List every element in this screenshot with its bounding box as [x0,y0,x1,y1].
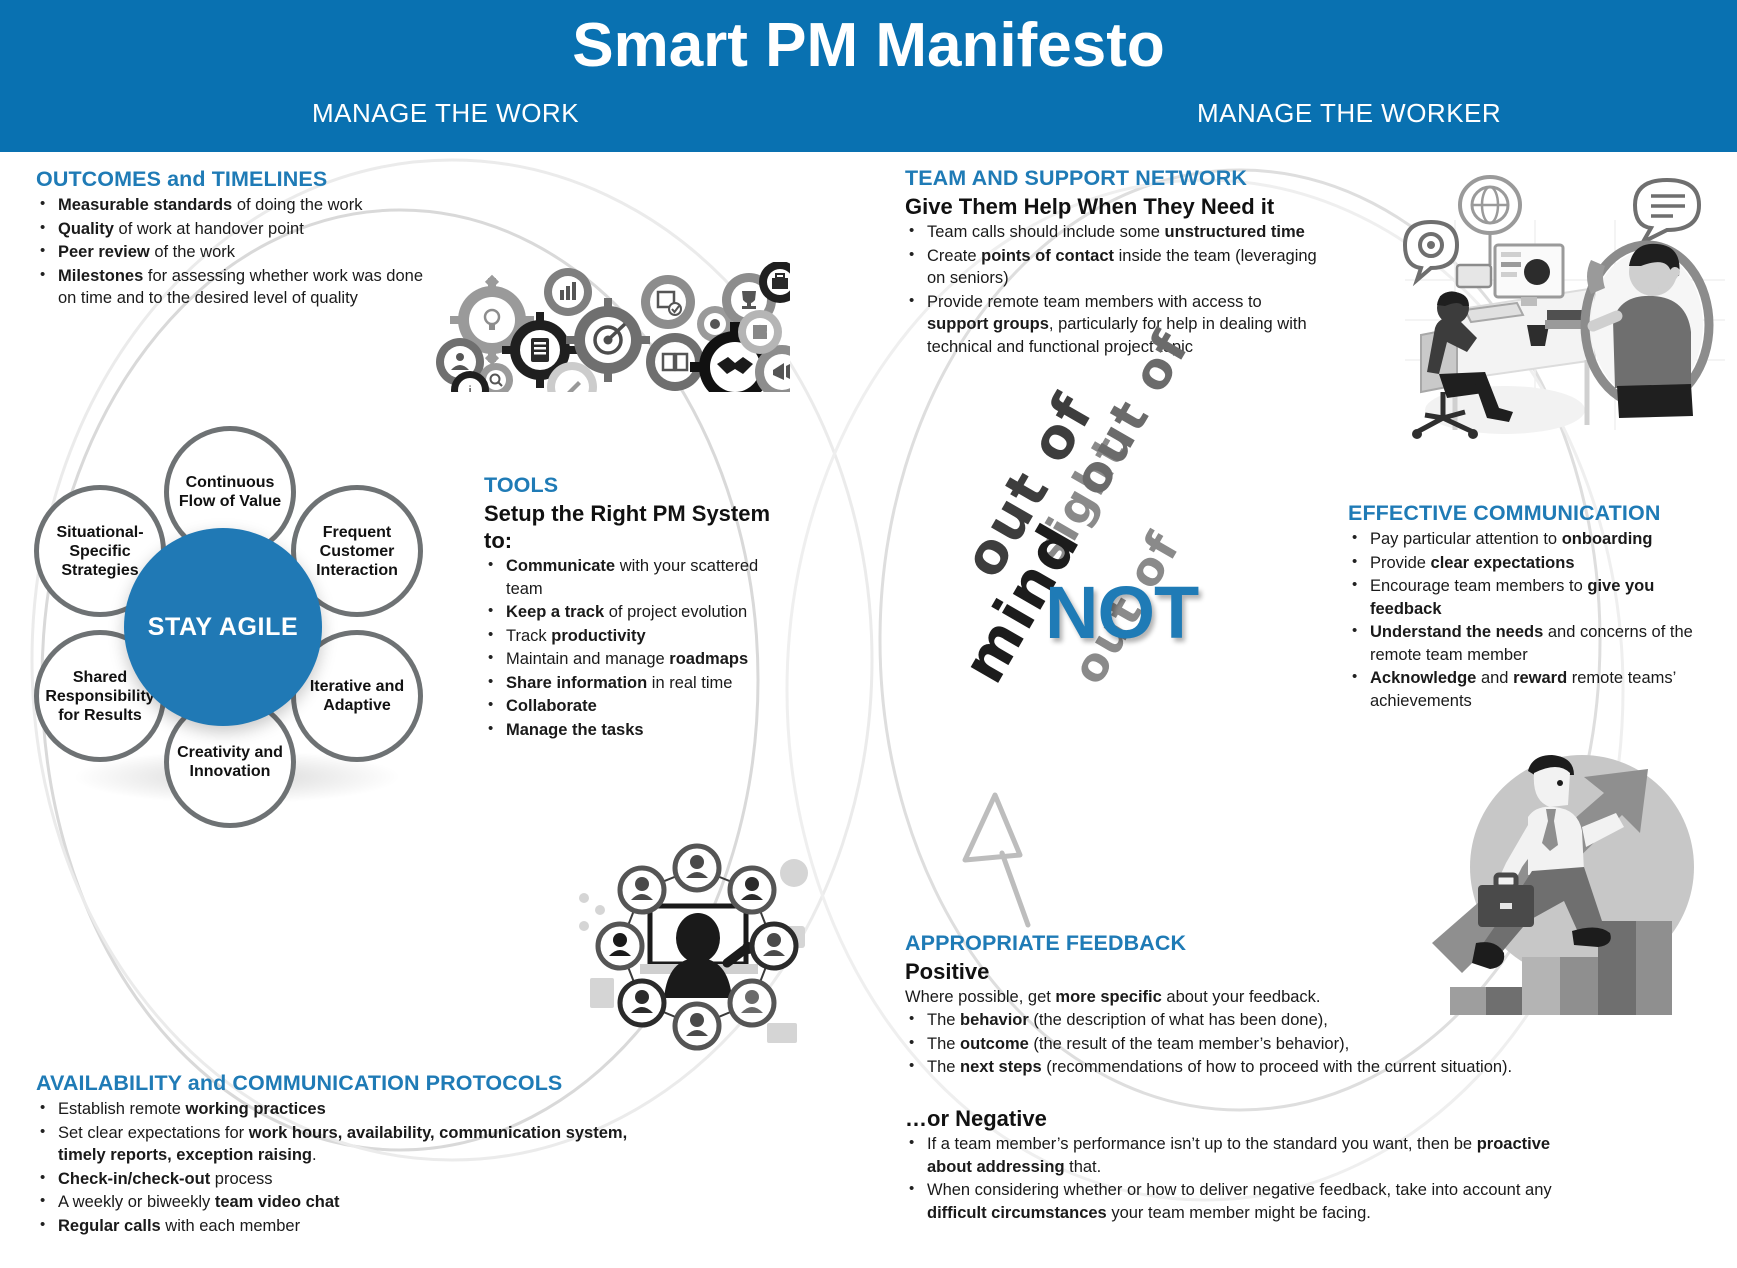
section-effective-communication: EFFECTIVE COMMUNICATION Pay particular a… [1348,500,1698,713]
list-item: The outcome (the result of the team memb… [905,1033,1595,1056]
effective-communication-list: Pay particular attention to onboarding P… [1348,528,1698,712]
petal-label: Creativity and Innovation [173,743,287,781]
petal-label: Continuous Flow of Value [173,473,287,511]
out-of-sight-stamp: out of sight out of mind out of NOT [935,470,1245,770]
feedback-negative-list: If a team member’s performance isn’t up … [905,1133,1595,1224]
list-item: Peer review of the work [36,241,426,264]
page-title: Smart PM Manifesto [0,6,1737,86]
stamp-pointer-arrow [965,795,1028,925]
list-item: Encourage team members to give you feedb… [1348,575,1698,620]
list-item: Understand the needs and concerns of the… [1348,621,1698,666]
header-subtitle-left: MANAGE THE WORK [312,98,579,129]
stay-agile-core: STAY AGILE [124,528,322,726]
list-item: Regular calls with each member [36,1215,676,1238]
outcomes-list: Measurable standards of doing the work Q… [36,194,426,310]
petal-label: Iterative and Adaptive [300,677,414,715]
remote-team-network-illustration [572,838,822,1058]
section-negative-feedback: …or Negative If a team member’s performa… [905,1105,1595,1225]
stamp-not-emphasis: NOT [1045,570,1198,655]
list-item: Create points of contact inside the team… [905,245,1325,290]
svg-text:i: i [469,383,472,392]
section-outcomes-timelines: OUTCOMES and TIMELINES Measurable standa… [36,166,426,311]
stay-agile-diagram: Continuous Flow of Value Frequent Custom… [12,398,472,828]
header-subtitle-right: MANAGE THE WORKER [1197,98,1501,129]
list-item: Milestones for assessing whether work wa… [36,265,426,310]
infographic-page: Smart PM Manifesto MANAGE THE WORK MANAG… [0,0,1737,1268]
list-item: Set clear expectations for work hours, a… [36,1122,676,1167]
petal-label: Frequent Customer Interaction [300,523,414,580]
tools-list: Communicate with your scattered team Kee… [484,555,784,741]
tools-subheading: Setup the Right PM System to: [484,500,784,554]
section-availability-protocols: AVAILABILITY and COMMUNICATION PROTOCOLS… [36,1070,676,1238]
businessman-climbing-chart-illustration [1432,735,1732,1015]
feedback-positive-list: The behavior (the description of what ha… [905,1009,1595,1079]
stay-agile-label: STAY AGILE [148,613,298,642]
list-item: When considering whether or how to deliv… [905,1179,1595,1224]
section-tools: TOOLS Setup the Right PM System to: Comm… [484,472,784,742]
list-item: Communicate with your scattered team [484,555,784,600]
list-item: Provide clear expectations [1348,552,1698,575]
availability-heading: AVAILABILITY and COMMUNICATION PROTOCOLS [36,1070,676,1096]
list-item: Acknowledge and reward remote teams’ ach… [1348,667,1698,712]
tools-heading: TOOLS [484,472,784,498]
list-item: Provide remote team members with access … [905,291,1325,359]
list-item: Establish remote working practices [36,1098,676,1121]
team-support-heading: TEAM AND SUPPORT NETWORK [905,165,1325,191]
list-item: Keep a track of project evolution [484,601,784,624]
outcomes-heading: OUTCOMES and TIMELINES [36,166,426,192]
list-item: Manage the tasks [484,719,784,742]
list-item: Collaborate [484,695,784,718]
list-item: Pay particular attention to onboarding [1348,528,1698,551]
feedback-negative-title: …or Negative [905,1105,1595,1132]
list-item: Share information in real time [484,672,784,695]
list-item: Maintain and manage roadmaps [484,648,784,671]
list-item: The next steps (recommendations of how t… [905,1056,1595,1079]
list-item: Team calls should include some unstructu… [905,221,1325,244]
list-item: If a team member’s performance isn’t up … [905,1133,1595,1178]
list-item: Check-in/check-out process [36,1168,676,1191]
page-header: Smart PM Manifesto MANAGE THE WORK MANAG… [0,0,1737,152]
team-support-subheading: Give Them Help When They Need it [905,193,1325,220]
list-item: Measurable standards of doing the work [36,194,426,217]
team-support-list: Team calls should include some unstructu… [905,221,1325,358]
list-item: Quality of work at handover point [36,218,426,241]
gear-cluster-illustration: i [430,262,790,392]
section-team-support-network: TEAM AND SUPPORT NETWORK Give Them Help … [905,165,1325,359]
remote-support-desk-illustration [1395,160,1735,450]
effective-communication-heading: EFFECTIVE COMMUNICATION [1348,500,1698,526]
list-item: Track productivity [484,625,784,648]
list-item: A weekly or biweekly team video chat [36,1191,676,1214]
availability-list: Establish remote working practices Set c… [36,1098,676,1237]
